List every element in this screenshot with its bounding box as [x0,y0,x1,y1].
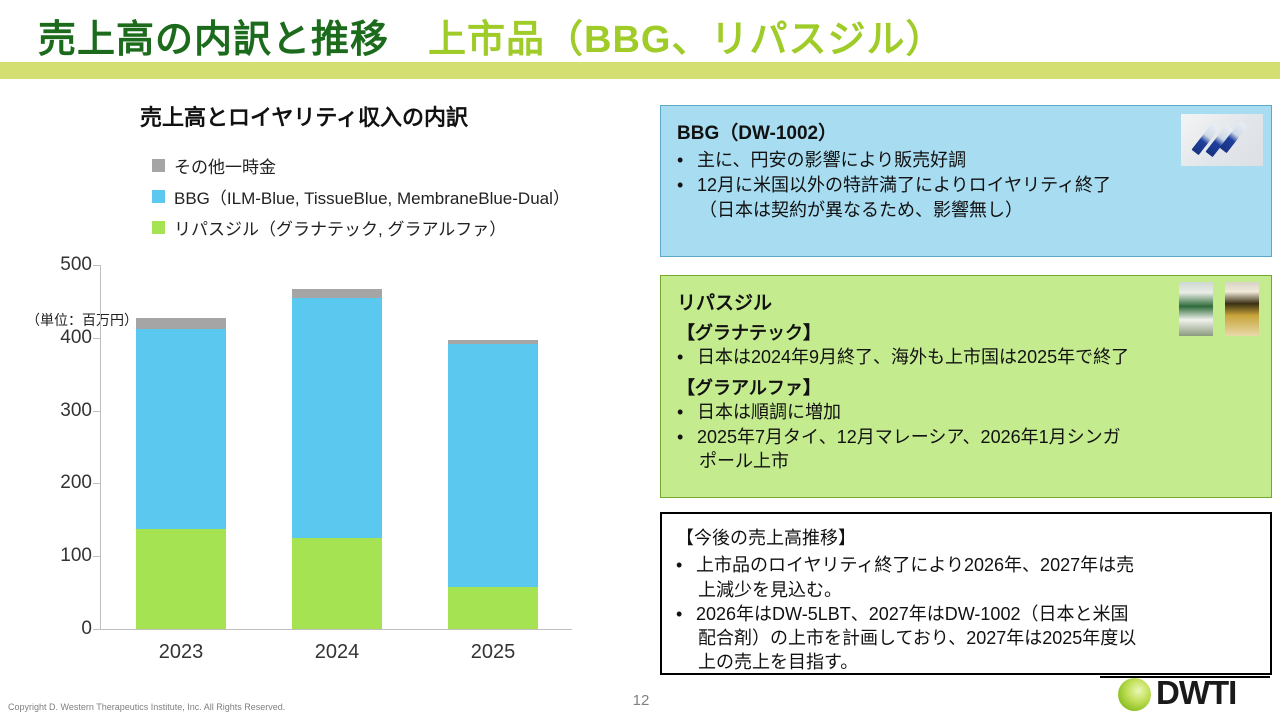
glanatec-bottle-photo [1179,282,1213,336]
chart-x-tick-label: 2025 [433,641,553,664]
chart-bar-segment [136,329,226,529]
bullet-dot-icon: • [677,346,697,370]
page-title-primary: 売上高の内訳と推移 [38,19,389,61]
chart-y-tick-mark [93,411,101,412]
panel-ripasudil-subtitle-glanatec: 【グラナテック】 [677,319,1257,345]
chart-bar-segment [292,289,382,298]
panel-bbg-title: BBG（DW-1002） [677,118,1257,145]
panel-bbg-bullet-1-text: 主に、円安の影響により販売好調 [697,149,1257,173]
legend-label-bbg: BBG（ILM-Blue, TissueBlue, MembraneBlue-D… [174,184,570,209]
legend-item-other: その他一時金 [152,150,570,181]
chart-bar-segment [448,587,538,629]
legend-swatch-other-icon [152,159,165,172]
chart-y-tick-mark [93,629,101,630]
chart-x-tick-label: 2023 [121,641,241,664]
chart-y-tick-label: 100 [6,545,92,567]
panel-ripasudil-bullet-2: • 日本は順調に増加 [677,401,1257,425]
chart-y-tick-mark [93,265,101,266]
bullet-dot-icon: • [677,426,697,450]
panel-bbg-bullet-1: • 主に、円安の影響により販売好調 [677,149,1257,173]
header-divider [0,62,1280,79]
dwti-logo-text: DWTI [1156,674,1236,712]
bbg-vials-photo [1181,114,1263,166]
bullet-dot-icon: • [677,149,697,173]
legend-swatch-bbg-icon [152,190,165,203]
chart-x-axis [100,629,572,630]
glaalpha-bottle-photo [1225,282,1259,336]
chart-y-tick-label: 200 [6,472,92,494]
dwti-sphere-icon [1118,678,1151,711]
chart-x-tick-label: 2024 [277,641,397,664]
chart-bar-segment [292,298,382,538]
panel-ripasudil-title: リパスジル [677,288,1257,315]
panel-outlook-bullet-1-line-2: 上減少を見込む。 [676,579,1260,603]
legend-label-other: その他一時金 [174,153,276,178]
panel-bbg: BBG（DW-1002） • 主に、円安の影響により販売好調 • 12月に米国以… [660,105,1272,257]
panel-outlook-bullet-2-line-3: 上の売上を目指す。 [676,651,1260,675]
bullet-dot-icon: • [677,401,697,425]
chart-y-tick-label: 0 [6,618,92,640]
chart-y-tick-label: 500 [6,254,92,276]
panel-outlook-bullet-2-line-1: 2026年はDW-5LBT、2027年はDW-1002（日本と米国 [696,603,1260,627]
panel-ripasudil-bullet-3-text: 2025年7月タイ、12月マレーシア、2026年1月シンガ [697,426,1257,450]
bullet-dot-icon: • [676,554,696,578]
chart-bar-segment [136,318,226,329]
bullet-dot-icon: • [677,174,697,198]
chart-y-tick-label: 300 [6,400,92,422]
legend-item-bbg: BBG（ILM-Blue, TissueBlue, MembraneBlue-D… [152,181,570,212]
panel-outlook-bullet-2-line-2: 配合剤）の上市を計画しており、2027年は2025年度以 [676,627,1260,651]
panel-ripasudil-bullet-3: • 2025年7月タイ、12月マレーシア、2026年1月シンガ [677,426,1257,450]
panel-outlook-bullet-1: • 上市品のロイヤリティ終了により2026年、2027年は売 [676,554,1260,578]
panel-outlook-bullet-1-line-1: 上市品のロイヤリティ終了により2026年、2027年は売 [696,554,1260,578]
slide: 売上高の内訳と推移 上市品（BBG、リパスジル） 売上高とロイヤリティ収入の内訳… [0,0,1280,720]
chart-legend: その他一時金 BBG（ILM-Blue, TissueBlue, Membran… [152,150,570,243]
chart-bar-segment [448,344,538,586]
chart-y-tick-mark [93,483,101,484]
panel-ripasudil-bullet-1: • 日本は2024年9月終了、海外も上市国は2025年で終了 [677,346,1257,370]
panel-outlook: 【今後の売上高推移】 • 上市品のロイヤリティ終了により2026年、2027年は… [660,512,1272,675]
page-title: 売上高の内訳と推移 上市品（BBG、リパスジル） [38,8,944,63]
chart-bar-segment [448,340,538,344]
chart-title: 売上高とロイヤリティ収入の内訳 [0,100,648,132]
legend-item-ripasudil: リパスジル（グラナテック, グラアルファ） [152,212,570,243]
chart-bar-segment [136,529,226,629]
panel-ripasudil-bullet-1-text: 日本は2024年9月終了、海外も上市国は2025年で終了 [697,346,1257,370]
legend-swatch-ripasudil-icon [152,221,165,234]
panel-outlook-bullet-2: • 2026年はDW-5LBT、2027年はDW-1002（日本と米国 [676,603,1260,627]
panel-bbg-bullet-2-continuation: （日本は契約が異なるため、影響無し） [677,199,1257,223]
legend-label-ripasudil: リパスジル（グラナテック, グラアルファ） [174,215,506,240]
panel-ripasudil-subtitle-glaalpha: 【グラアルファ】 [677,374,1257,400]
panel-outlook-title: 【今後の売上高推移】 [676,524,1260,550]
copyright-text: Copyright D. Western Therapeutics Instit… [8,702,285,712]
panel-ripasudil-bullet-2-text: 日本は順調に増加 [697,401,1257,425]
panel-bbg-bullet-2: • 12月に米国以外の特許満了によりロイヤリティ終了 [677,174,1257,198]
chart-y-tick-mark [93,556,101,557]
dwti-logo: DWTI [1118,676,1270,714]
panel-bbg-bullet-2-text: 12月に米国以外の特許満了によりロイヤリティ終了 [697,174,1257,198]
page-number: 12 [616,692,666,709]
slide-header: 売上高の内訳と推移 上市品（BBG、リパスジル） [0,0,1280,80]
panel-ripasudil: リパスジル 【グラナテック】 • 日本は2024年9月終了、海外も上市国は202… [660,275,1272,498]
bullet-dot-icon: • [676,603,696,627]
chart-y-axis [100,265,101,630]
page-title-secondary: 上市品（BBG、リパスジル） [389,19,944,61]
chart-y-tick-label: 400 [6,327,92,349]
panel-ripasudil-bullet-3-continuation: ポール上市 [677,450,1257,474]
chart-bar-segment [292,538,382,629]
chart-y-tick-mark [93,338,101,339]
